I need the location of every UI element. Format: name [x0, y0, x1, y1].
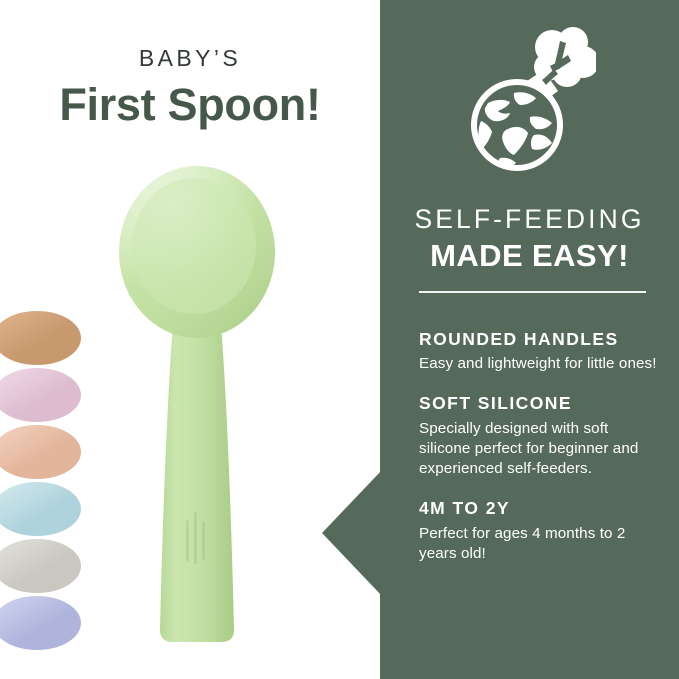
divider	[419, 291, 646, 293]
main-spoon-image	[112, 160, 282, 645]
feature-block: SOFT SILICONESpecially designed with sof…	[419, 394, 659, 479]
color-swatch-spoon-peach[interactable]	[0, 424, 84, 480]
feature-body: Perfect for ages 4 months to 2 years old…	[419, 524, 659, 564]
eyebrow-text: BABY’S	[0, 45, 380, 72]
color-swatch-spoon-tan[interactable]	[0, 310, 84, 366]
infographic-canvas: BABY’S First Spoon!	[0, 0, 679, 679]
globe-broccoli-logo-icon	[468, 25, 596, 193]
pointer-arrow-icon	[322, 470, 382, 596]
color-swatch-spoon-blue[interactable]	[0, 481, 84, 537]
color-swatch-spoon-pink[interactable]	[0, 367, 84, 423]
feature-block: 4M TO 2YPerfect for ages 4 months to 2 y…	[419, 499, 659, 564]
feature-list: ROUNDED HANDLESEasy and lightweight for …	[419, 330, 659, 564]
feature-title: SOFT SILICONE	[419, 394, 659, 413]
feature-title: ROUNDED HANDLES	[419, 330, 659, 349]
right-panel: SELF-FEEDING MADE EASY! ROUNDED HANDLESE…	[380, 0, 679, 679]
feature-title: 4M TO 2Y	[419, 499, 659, 518]
color-swatch-spoon-periwinkle[interactable]	[0, 595, 84, 651]
feature-body: Easy and lightweight for little ones!	[419, 354, 659, 374]
feature-block: ROUNDED HANDLESEasy and lightweight for …	[419, 330, 659, 374]
brand-tagline-line-2: MADE EASY!	[380, 238, 679, 274]
color-swatch-spoon-grey[interactable]	[0, 538, 84, 594]
feature-body: Specially designed with soft silicone pe…	[419, 419, 659, 480]
page-title: First Spoon!	[0, 80, 380, 130]
brand-tagline-line-1: SELF-FEEDING	[380, 204, 679, 235]
